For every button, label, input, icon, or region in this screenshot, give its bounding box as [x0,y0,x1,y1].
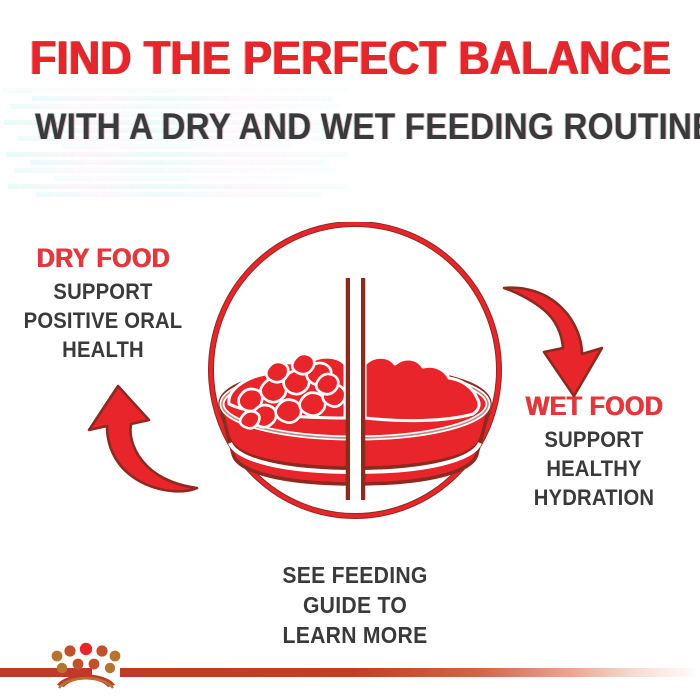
crown-dot-left-mid [73,659,84,670]
page-title: FIND THE PERFECT BALANCE [28,31,672,85]
pet-food-bowl-icon [220,278,490,500]
ghost-artifact-row [8,184,348,189]
callout-wet-food-line-2: HYDRATION [500,483,688,512]
center-illustration [205,222,505,522]
footer-rule-right-segment [120,668,700,677]
page-subtitle: WITH A DRY AND WET FEEDING ROUTINE [35,105,665,149]
callout-dry-food-body: SUPPORT POSITIVE ORAL HEALTH [12,277,194,364]
callout-dry-food-line-2: POSITIVE ORAL [12,306,194,335]
crown-dot-right-mid [89,659,100,670]
curved-arrow-down-icon [500,282,620,407]
crown-dot-center-top [80,643,92,655]
ghost-artifact-row [14,168,336,173]
callout-dry-food-line-3: HEALTH [12,335,194,364]
crown-dot-right-top [96,645,107,656]
crown-dot-far-right-top [110,651,121,662]
infographic-canvas: FIND THE PERFECT BALANCE WITH A DRY AND … [0,0,700,700]
dry-kibble-group [229,354,345,428]
callout-dry-food-title: DRY FOOD [11,242,195,275]
ghost-artifact-row [36,192,324,197]
crown-arc [57,675,115,688]
callout-wet-food-line-1: SUPPORT HEALTHY [500,425,688,483]
crown-dot-far-right-mid [105,663,115,673]
cta-see-feeding-guide[interactable]: SEE FEEDING GUIDE TO LEARN MORE [245,560,466,650]
crown-dot-far-left-top [52,651,63,662]
ghost-artifact-row [32,96,332,101]
cta-line-2: GUIDE TO [245,590,466,620]
callout-wet-food: WET FOOD SUPPORT HEALTHY HYDRATION [492,390,696,512]
wet-food-mound [365,357,479,420]
curved-arrow-up-icon [85,372,200,497]
callout-dry-food-line-1: SUPPORT [12,277,194,306]
crown-dot-far-left-mid [57,663,67,673]
ghost-artifact-row [54,176,296,181]
ghost-artifact-row [30,160,326,165]
wet-food-group [365,357,479,420]
royal-canin-crown-logo [46,640,126,692]
ghost-artifact-row [2,88,350,93]
ghost-artifact-row [6,152,350,157]
callout-wet-food-body: SUPPORT HEALTHY HYDRATION [500,425,688,512]
bowl-divider [348,278,363,500]
cta-line-3: LEARN MORE [245,620,466,650]
cta-line-1: SEE FEEDING [245,560,466,590]
crown-dot-left-top [64,645,75,656]
callout-dry-food: DRY FOOD SUPPORT POSITIVE ORAL HEALTH [4,242,202,364]
